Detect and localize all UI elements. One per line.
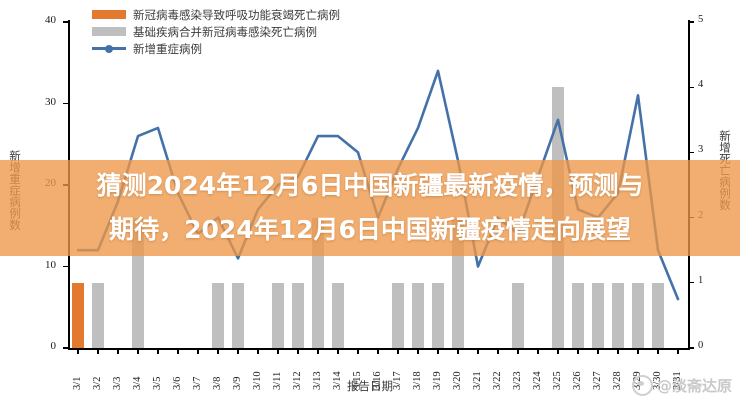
x-tick-mark [617,349,618,354]
x-tick-mark [437,349,438,354]
x-tick-mark [657,349,658,354]
y-tick-mark-right [689,282,694,283]
x-tick-mark [637,349,638,354]
y-tick-label: 40 [30,14,56,26]
x-tick-mark [157,349,158,354]
y-tick-label-right: 0 [698,340,718,351]
legend-item-orange: 新冠病毒感染导致呼吸功能衰竭死亡病例 [92,6,340,23]
x-tick-mark [557,349,558,354]
y-tick-label: 10 [30,259,56,271]
chart-root: 新冠病毒感染导致呼吸功能衰竭死亡病例 基础疾病合并新冠病毒感染死亡病例 新增重症… [0,0,740,400]
x-tick-mark [397,349,398,354]
x-tick-mark [417,349,418,354]
x-tick-mark [297,349,298,354]
x-tick-mark [177,349,178,354]
y-tick-label-right: 4 [698,79,718,90]
x-tick-mark [117,349,118,354]
y-tick-label: 0 [30,340,56,352]
weibo-icon [632,375,653,396]
y-tick-mark-right [689,21,694,22]
x-tick-mark [377,349,378,354]
x-tick-mark [517,349,518,354]
watermark: @淡斋达原 [632,375,732,396]
x-tick-mark [577,349,578,354]
x-tick-mark [217,349,218,354]
x-tick-mark [257,349,258,354]
x-tick-mark [77,349,78,354]
watermark-text: @淡斋达原 [657,375,732,396]
x-tick-mark [337,349,338,354]
x-tick-mark [497,349,498,354]
x-tick-mark [317,349,318,354]
legend-swatch-orange [92,10,126,19]
legend-label-orange: 新冠病毒感染导致呼吸功能衰竭死亡病例 [133,7,340,23]
x-tick-mark [537,349,538,354]
y-tick-mark-right [689,152,694,153]
x-tick-mark [477,349,478,354]
x-tick-mark [357,349,358,354]
x-tick-mark [457,349,458,354]
x-axis-label: 报告日期 [0,378,740,394]
y-tick-label: 30 [30,96,56,108]
x-tick-mark [97,349,98,354]
x-tick-mark [237,349,238,354]
x-tick-mark [677,349,678,354]
y-tick-mark-right [689,347,694,348]
y-tick-label-right: 3 [698,144,718,155]
x-tick-mark [197,349,198,354]
overlay-banner-background [0,160,740,256]
x-tick-mark [137,349,138,354]
y-tick-mark-right [689,87,694,88]
y-tick-label-right: 5 [698,14,718,25]
x-tick-mark [277,349,278,354]
x-tick-mark [597,349,598,354]
y-tick-label-right: 1 [698,275,718,286]
